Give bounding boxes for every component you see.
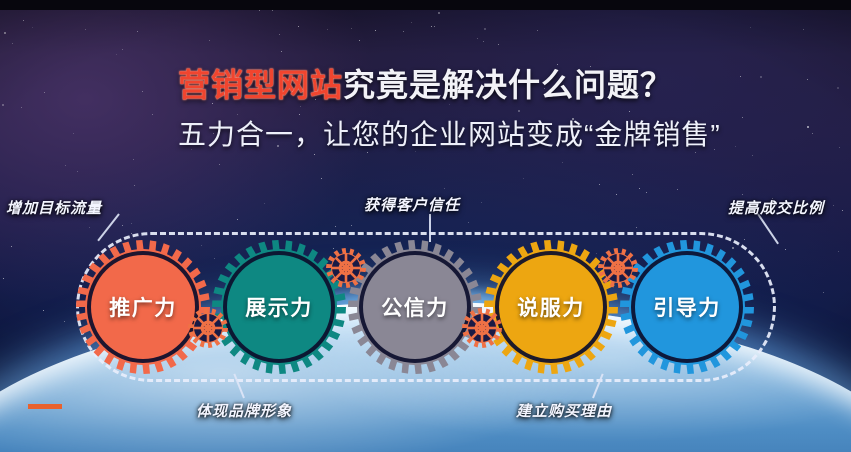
connector-gear-icon: [188, 308, 228, 348]
note-bottom-left: 体现品牌形象: [196, 400, 292, 421]
connector-gear-icon: [326, 248, 366, 288]
leader-line-top-center: [429, 214, 431, 242]
headline-line-1: 营销型网站究竟是解决什么问题？: [178, 64, 818, 106]
slide-canvas: 营销型网站究竟是解决什么问题？ 五力合一，让您的企业网站变成“金牌销售” 推广力…: [0, 0, 851, 452]
headline-highlight: 营销型网站: [178, 67, 343, 103]
headline-line-2: 五力合一，让您的企业网站变成“金牌销售”: [178, 116, 818, 154]
gear-label: 引导力: [620, 240, 754, 374]
accent-bar: [28, 404, 62, 409]
headline-line-1-rest: 究竟是解决什么问题？: [343, 67, 673, 103]
note-bottom-right: 建立购买理由: [516, 400, 612, 421]
connector-gear-icon: [462, 308, 502, 348]
gear-label: 公信力: [348, 240, 482, 374]
headline-block: 营销型网站究竟是解决什么问题？ 五力合一，让您的企业网站变成“金牌销售”: [178, 64, 818, 154]
gear-label: 推广力: [76, 240, 210, 374]
note-top-left: 增加目标流量: [6, 197, 102, 218]
gear-row: 推广力展示力公信力说服力引导力: [0, 240, 851, 380]
note-top-right: 提高成交比例: [728, 197, 824, 218]
connector-gear-icon: [598, 248, 638, 288]
gear-yindaoli[interactable]: 引导力: [620, 240, 754, 374]
top-black-band: [0, 0, 851, 10]
gear-gongxinli[interactable]: 公信力: [348, 240, 482, 374]
gear-tuiguangli[interactable]: 推广力: [76, 240, 210, 374]
note-top-center: 获得客户信任: [364, 194, 460, 215]
